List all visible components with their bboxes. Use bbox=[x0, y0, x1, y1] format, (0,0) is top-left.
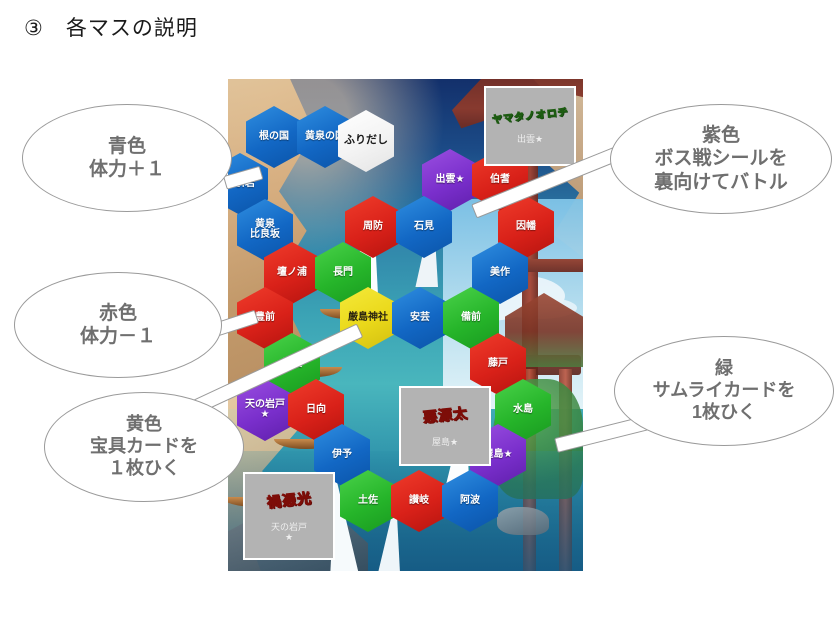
callout-yellow-line-3: １枚ひく bbox=[108, 458, 180, 480]
callout-green-line-2: サムライカードを bbox=[653, 380, 796, 402]
board-space-label: 厳島神社 bbox=[346, 313, 390, 324]
board-space[interactable]: 讃岐 bbox=[391, 470, 447, 532]
board-space-label: 伯耆 bbox=[488, 175, 512, 186]
boss-card[interactable]: ヤマタノオロチ出雲★ bbox=[484, 86, 576, 166]
board-space-label: 周防 bbox=[361, 222, 385, 233]
board-space-label: 藤戸 bbox=[486, 359, 510, 370]
callout-red-line-2: 体力－１ bbox=[80, 325, 156, 348]
boss-card-space-ref: 出雲★ bbox=[517, 134, 543, 144]
board-space-label: 因幡 bbox=[514, 222, 538, 233]
board-space-label: 石見 bbox=[412, 222, 436, 233]
callout-yellow-bubble[interactable]: 黄色 宝具カードを １枚ひく bbox=[44, 392, 244, 502]
board-space-label: 美作 bbox=[488, 268, 512, 279]
torii-post-right-b bbox=[559, 369, 572, 571]
board-space-label: 天の岩戸★ bbox=[243, 400, 287, 421]
board-space-label: 水島 bbox=[511, 405, 535, 416]
boss-card-space-ref: 屋島★ bbox=[432, 437, 458, 447]
callout-blue-bubble[interactable]: 青色 体力＋１ bbox=[22, 104, 232, 212]
callout-blue-line-1: 青色 bbox=[108, 135, 146, 158]
callout-purple-line-1: 紫色 bbox=[702, 124, 740, 147]
callout-blue-line-2: 体力＋１ bbox=[89, 158, 165, 181]
callout-green-bubble[interactable]: 緑 サムライカードを 1枚ひく bbox=[614, 336, 834, 446]
board-space-label: 黄泉比良坂 bbox=[248, 220, 282, 241]
callout-green-line-3: 1枚ひく bbox=[692, 402, 756, 424]
boss-card[interactable]: 悪源太屋島★ bbox=[399, 386, 491, 466]
board-space-label: 日向 bbox=[304, 405, 328, 416]
callout-purple-line-2: ボス戦シールを bbox=[654, 147, 787, 170]
board-space-label: 伊予 bbox=[330, 450, 354, 461]
callout-purple-line-3: 裏向けてバトル bbox=[654, 171, 788, 194]
board-space[interactable]: 安芸 bbox=[392, 287, 448, 349]
callout-yellow-line-1: 黄色 bbox=[126, 414, 162, 436]
page-title: ③ 各マスの説明 bbox=[24, 12, 198, 42]
board-space-label: 阿波 bbox=[458, 496, 482, 507]
callout-green-line-1: 緑 bbox=[715, 358, 733, 380]
board-space-label: 讃岐 bbox=[407, 496, 431, 507]
callout-purple-bubble[interactable]: 紫色 ボス戦シールを 裏向けてバトル bbox=[610, 104, 832, 214]
board-space-label: 備前 bbox=[459, 313, 483, 324]
board-space-label: 安芸 bbox=[408, 313, 432, 324]
board-space-label: 根の国 bbox=[257, 132, 291, 143]
callout-red-bubble[interactable]: 赤色 体力－１ bbox=[14, 272, 222, 378]
board-space-label: 壇ノ浦 bbox=[275, 268, 309, 279]
board-space-label: 長門 bbox=[331, 268, 355, 279]
boss-card[interactable]: 禍憑光天の岩戸★ bbox=[243, 472, 335, 560]
boss-card-space-ref: 天の岩戸★ bbox=[271, 522, 307, 543]
board-space-label: ふりだし bbox=[342, 135, 390, 147]
board-space[interactable]: 根の国 bbox=[246, 106, 302, 168]
boss-card-name: 悪源太 bbox=[422, 403, 469, 428]
board-space-label: 土佐 bbox=[356, 496, 380, 507]
boss-card-name: 禍憑光 bbox=[266, 487, 313, 512]
game-board[interactable]: 根の国黄泉の国ふりだし千引岩黄泉比良坂出雲★伯耆周防石見因幡壇ノ浦長門美作豊前厳… bbox=[228, 79, 583, 571]
callout-yellow-line-2: 宝具カードを bbox=[90, 436, 198, 458]
callout-red-line-1: 赤色 bbox=[99, 302, 137, 325]
board-space-label: 出雲★ bbox=[434, 175, 467, 186]
rock-illustration-right bbox=[497, 507, 549, 535]
boss-card-name: ヤマタノオロチ bbox=[491, 103, 569, 126]
